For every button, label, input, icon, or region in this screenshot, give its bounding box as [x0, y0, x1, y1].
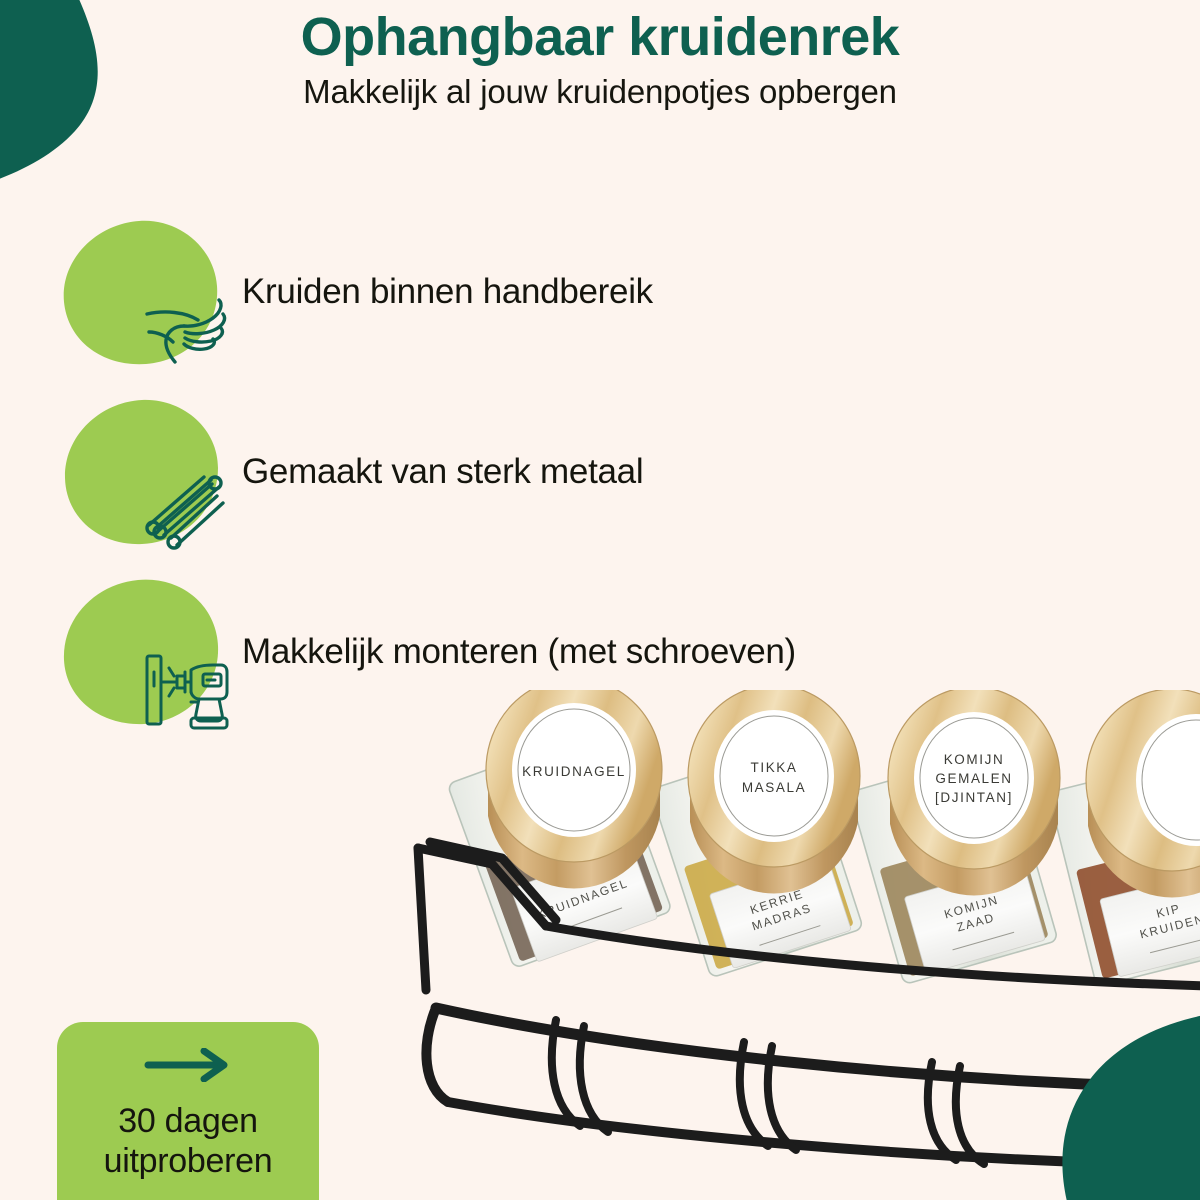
feature-badge-1: [62, 218, 220, 366]
feature-label-1: Kruiden binnen handbereik: [242, 272, 653, 312]
feature-item-1: Kruiden binnen handbereik: [62, 212, 1002, 372]
jar-lid-label-3c: [DJINTAN]: [935, 790, 1013, 805]
feature-badge-2: [62, 398, 220, 546]
jar-lid-label-3a: KOMIJN: [944, 752, 1005, 767]
feature-label-3: Makkelijk monteren (met schroeven): [242, 632, 796, 672]
jar-group: KRUIDNAGEL KERRIE MADRAS K: [447, 690, 1200, 987]
feature-badge-3: [62, 578, 220, 726]
page-title: Ophangbaar kruidenrek: [0, 8, 1200, 66]
trial-badge[interactable]: 30 dagen uitproberen: [57, 1022, 319, 1200]
trial-badge-line1: 30 dagen: [104, 1101, 273, 1141]
trial-badge-line2: uitproberen: [104, 1141, 273, 1181]
product-infographic: Ophangbaar kruidenrek Makkelijk al jouw …: [0, 0, 1200, 1200]
feature-item-2: Gemaakt van sterk metaal: [62, 392, 1002, 552]
jar-lid-label-2a: TIKKA: [750, 760, 797, 775]
jar-lid-2: TIKKA MASALA: [688, 690, 860, 893]
page-subtitle: Makkelijk al jouw kruidenpotjes opbergen: [0, 74, 1200, 110]
jar-lid-label-1: KRUIDNAGEL: [522, 764, 626, 779]
header: Ophangbaar kruidenrek Makkelijk al jouw …: [0, 8, 1200, 111]
product-photo: KRUIDNAGEL KERRIE MADRAS K: [396, 690, 1200, 1200]
jar-lid-3: KOMIJN GEMALEN [DJINTAN]: [888, 690, 1060, 895]
feature-list: Kruiden binnen handbereik: [62, 212, 1002, 752]
jar-lid-1: KRUIDNAGEL: [486, 690, 662, 888]
feature-label-2: Gemaakt van sterk metaal: [242, 452, 643, 492]
jar-lid-label-2b: MASALA: [742, 780, 806, 795]
arrow-right-icon: [142, 1048, 234, 1087]
jar-lid-label-3b: GEMALEN: [935, 771, 1012, 786]
